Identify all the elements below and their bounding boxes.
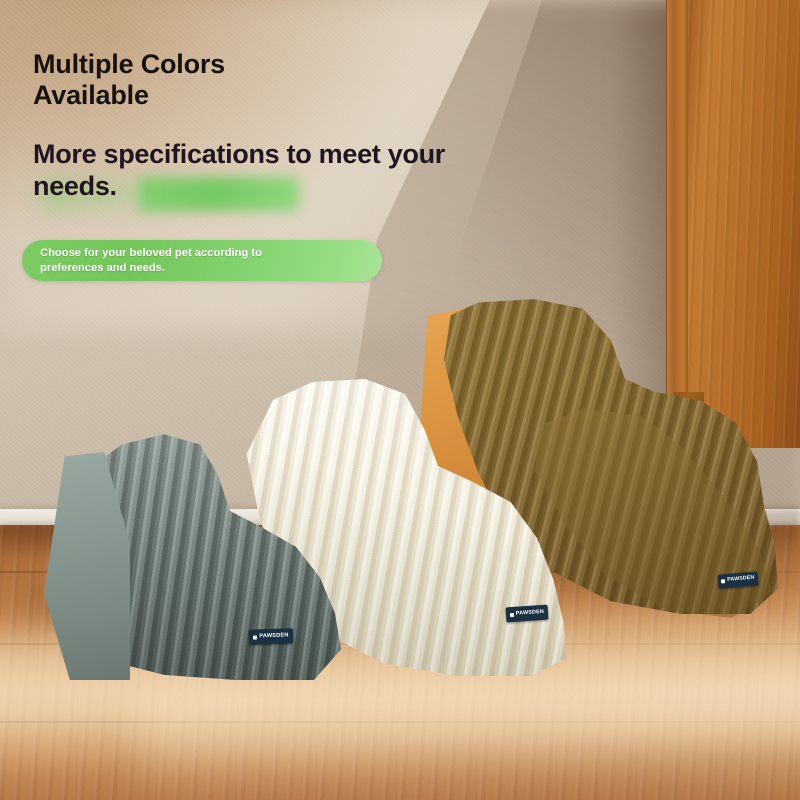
tagline-pill-text: Choose for your beloved pet according to… bbox=[22, 246, 276, 275]
marketing-text-overlay: Multiple Colors Available More specifica… bbox=[0, 0, 800, 300]
brand-logo-icon bbox=[253, 635, 257, 639]
pet-stairs-gray bbox=[44, 424, 344, 680]
subheadline: More specifications to meet your needs. bbox=[33, 139, 633, 203]
floor-sunlight-glow bbox=[140, 700, 800, 800]
brand-logo-icon bbox=[721, 579, 725, 583]
brand-tag-label: PAWSDEN bbox=[259, 633, 288, 640]
brand-tag-label: PAWSDEN bbox=[727, 576, 755, 584]
tagline-pill-badge: Choose for your beloved pet according to… bbox=[22, 240, 382, 281]
brand-logo-icon bbox=[510, 612, 514, 616]
subheadline-block: More specifications to meet your needs. bbox=[33, 139, 633, 203]
brand-tag-label: PAWSDEN bbox=[516, 610, 545, 617]
headline: Multiple Colors Available bbox=[33, 49, 593, 112]
product-banner-image: PAWSDEN PAWSDEN PAWSDEN Multiple Colors … bbox=[0, 0, 800, 800]
brand-tag-cream: PAWSDEN bbox=[506, 605, 549, 623]
brand-tag-gray: PAWSDEN bbox=[249, 628, 293, 645]
